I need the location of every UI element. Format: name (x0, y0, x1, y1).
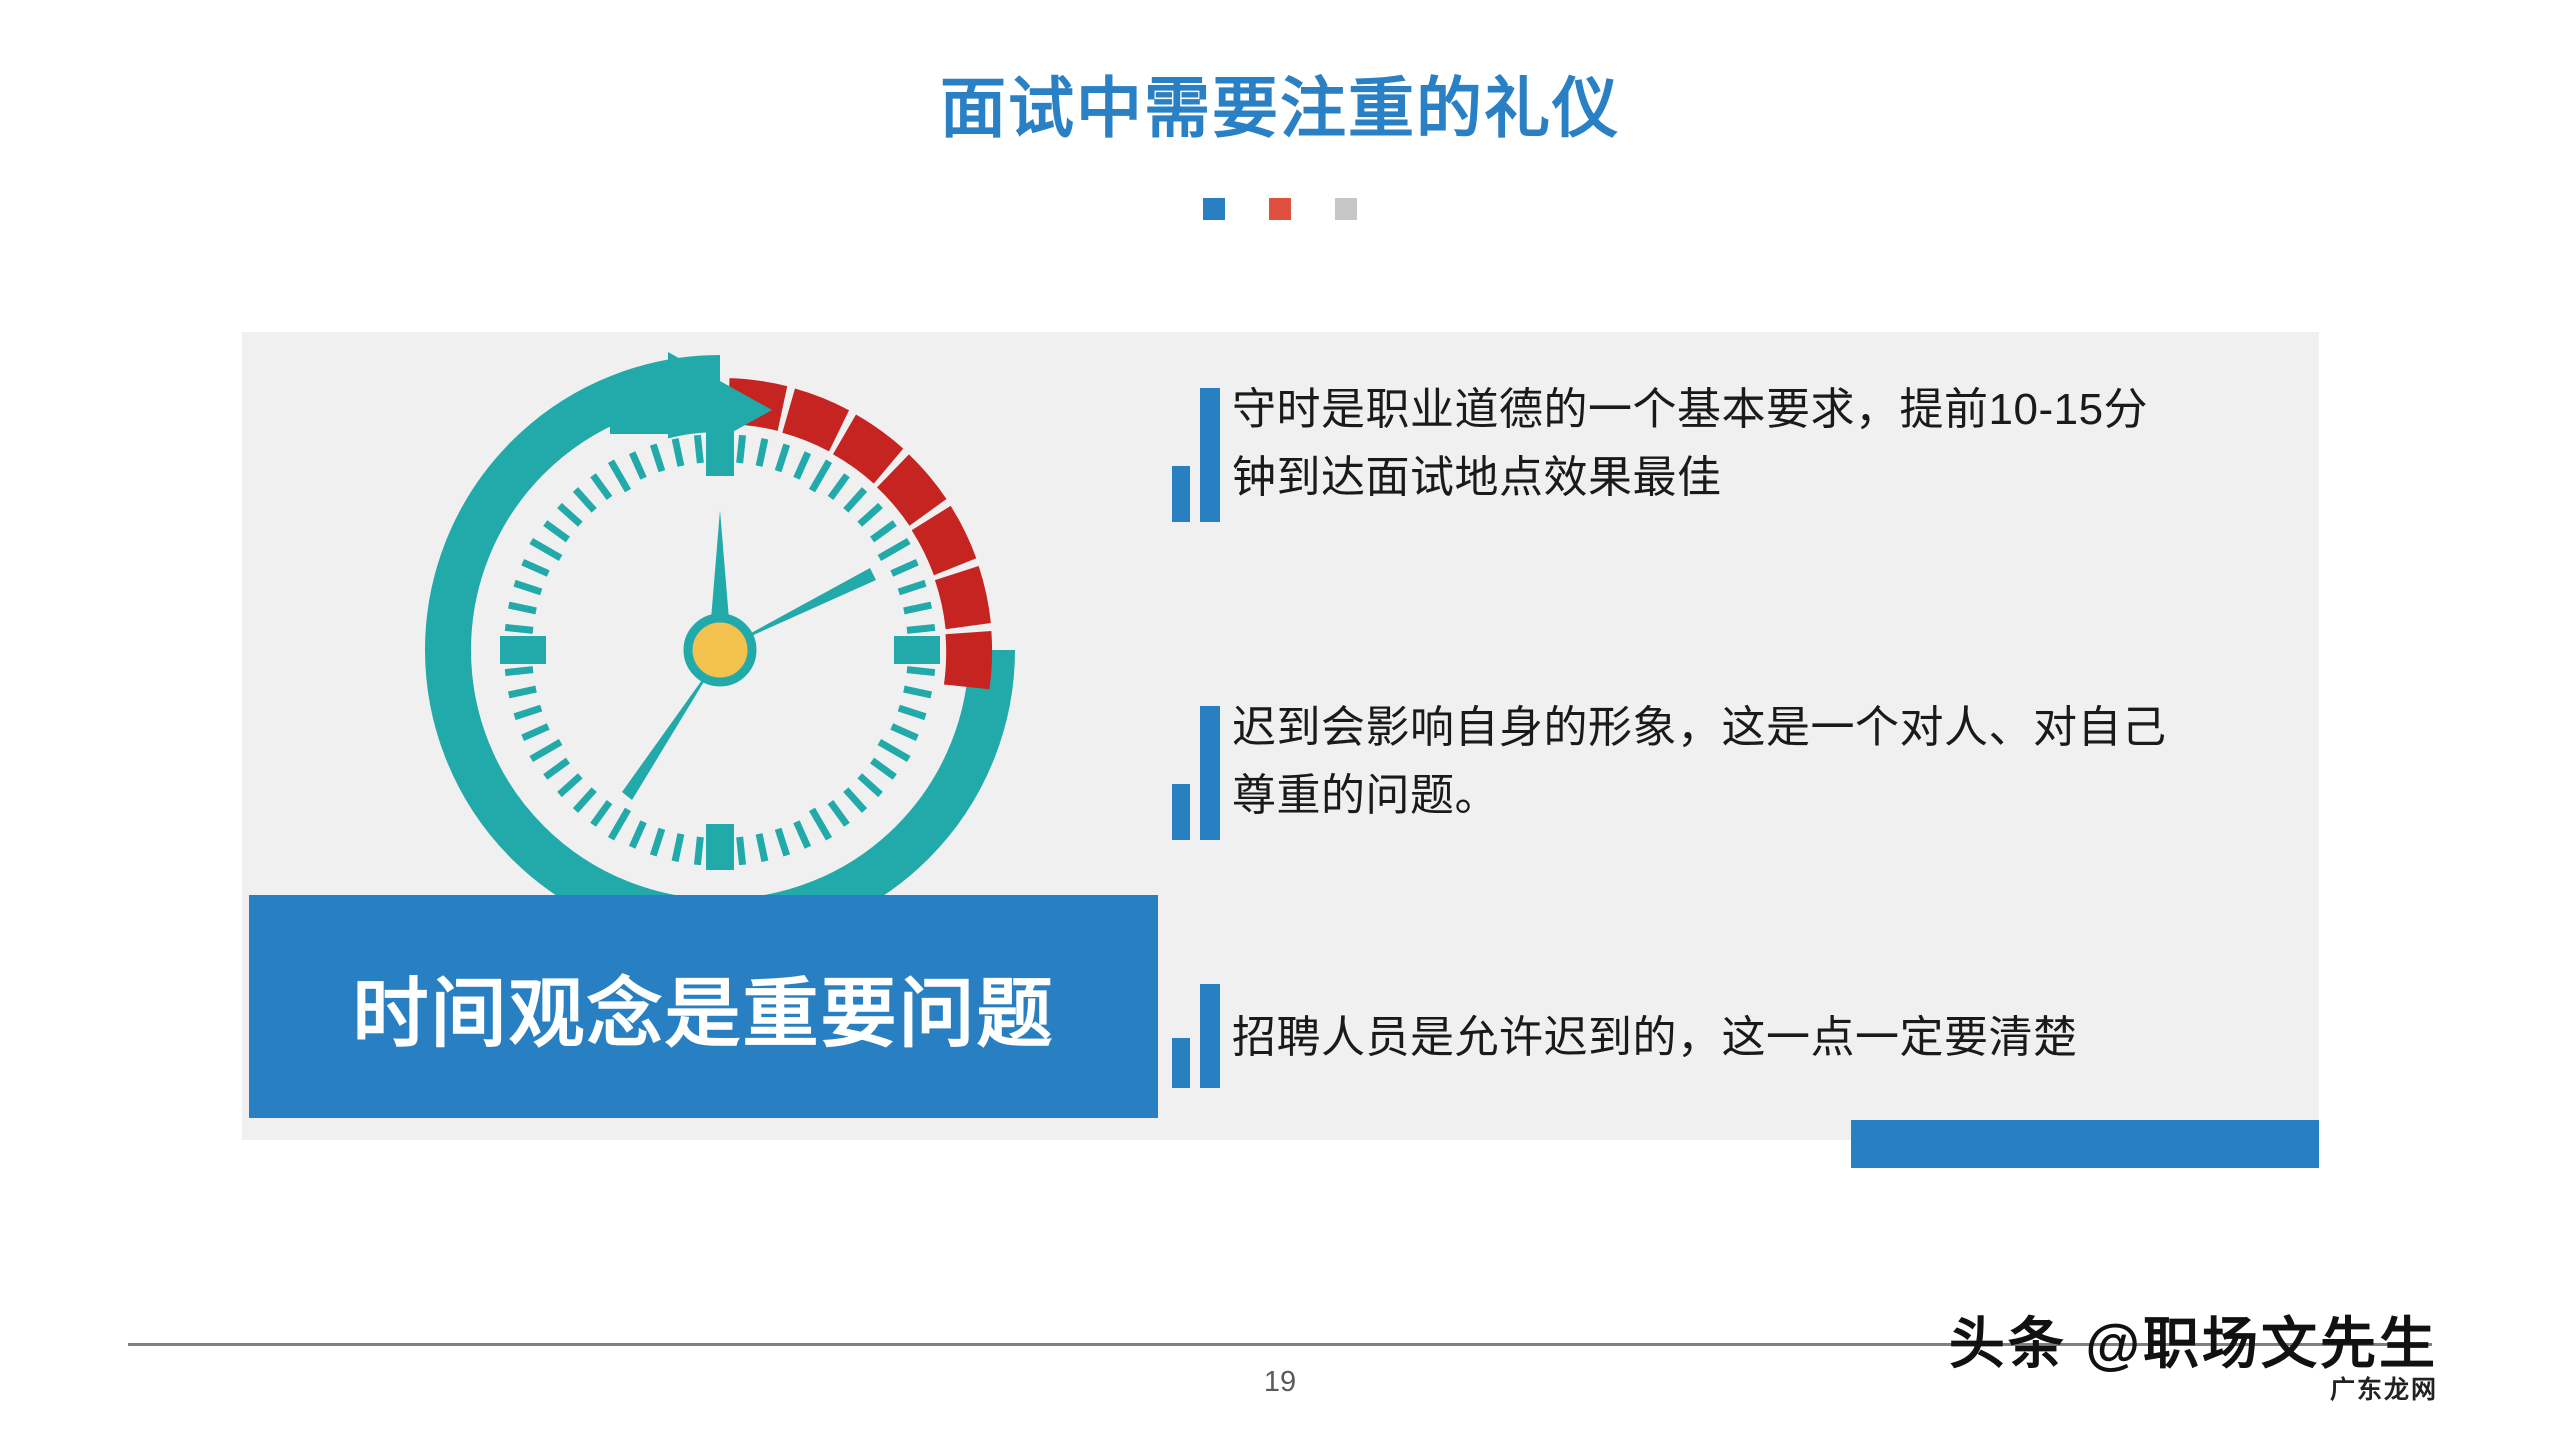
title-dot-blue (1203, 198, 1225, 220)
marker-bar-short (1172, 1038, 1190, 1088)
marker-bar-tall (1200, 706, 1220, 840)
title-dot-gray (1335, 198, 1357, 220)
bullet-text: 迟到会影响自身的形象，这是一个对人、对自己尊重的问题。 (1222, 694, 2172, 830)
bullet-text: 守时是职业道德的一个基本要求，提前10-15分钟到达面试地点效果最佳 (1222, 376, 2172, 512)
caption-banner-text: 时间观念是重要问题 (353, 952, 1055, 1062)
accent-bar (1851, 1120, 2319, 1168)
title-dot-red (1269, 198, 1291, 220)
title-accent-dots (0, 198, 2560, 220)
marker-bar-short (1172, 466, 1190, 522)
list-item: 守时是职业道德的一个基本要求，提前10-15分钟到达面试地点效果最佳 (1172, 382, 2172, 522)
bullet-text: 招聘人员是允许迟到的，这一点一定要清楚 (1222, 1004, 2078, 1072)
clock-hub (688, 618, 752, 682)
page-title: 面试中需要注重的礼仪 (0, 72, 2560, 145)
marker-bar-short (1172, 784, 1190, 840)
clock-icon (400, 330, 1040, 970)
watermark-main-text: 头条 @职场文先生 (1949, 1316, 2438, 1372)
list-item: 迟到会影响自身的形象，这是一个对人、对自己尊重的问题。 (1172, 700, 2172, 840)
marker-bar-tall (1200, 984, 1220, 1088)
bar-chart-marker-icon (1172, 700, 1222, 840)
bar-chart-marker-icon (1172, 382, 1222, 522)
caption-banner: 时间观念是重要问题 (249, 895, 1158, 1118)
marker-bar-tall (1200, 388, 1220, 522)
bar-chart-marker-icon (1172, 980, 1222, 1088)
watermark-sub-text: 广东龙网 (1949, 1378, 2438, 1403)
watermark: 头条 @职场文先生 广东龙网 (1949, 1316, 2438, 1403)
list-item: 招聘人员是允许迟到的，这一点一定要清楚 (1172, 980, 2222, 1088)
